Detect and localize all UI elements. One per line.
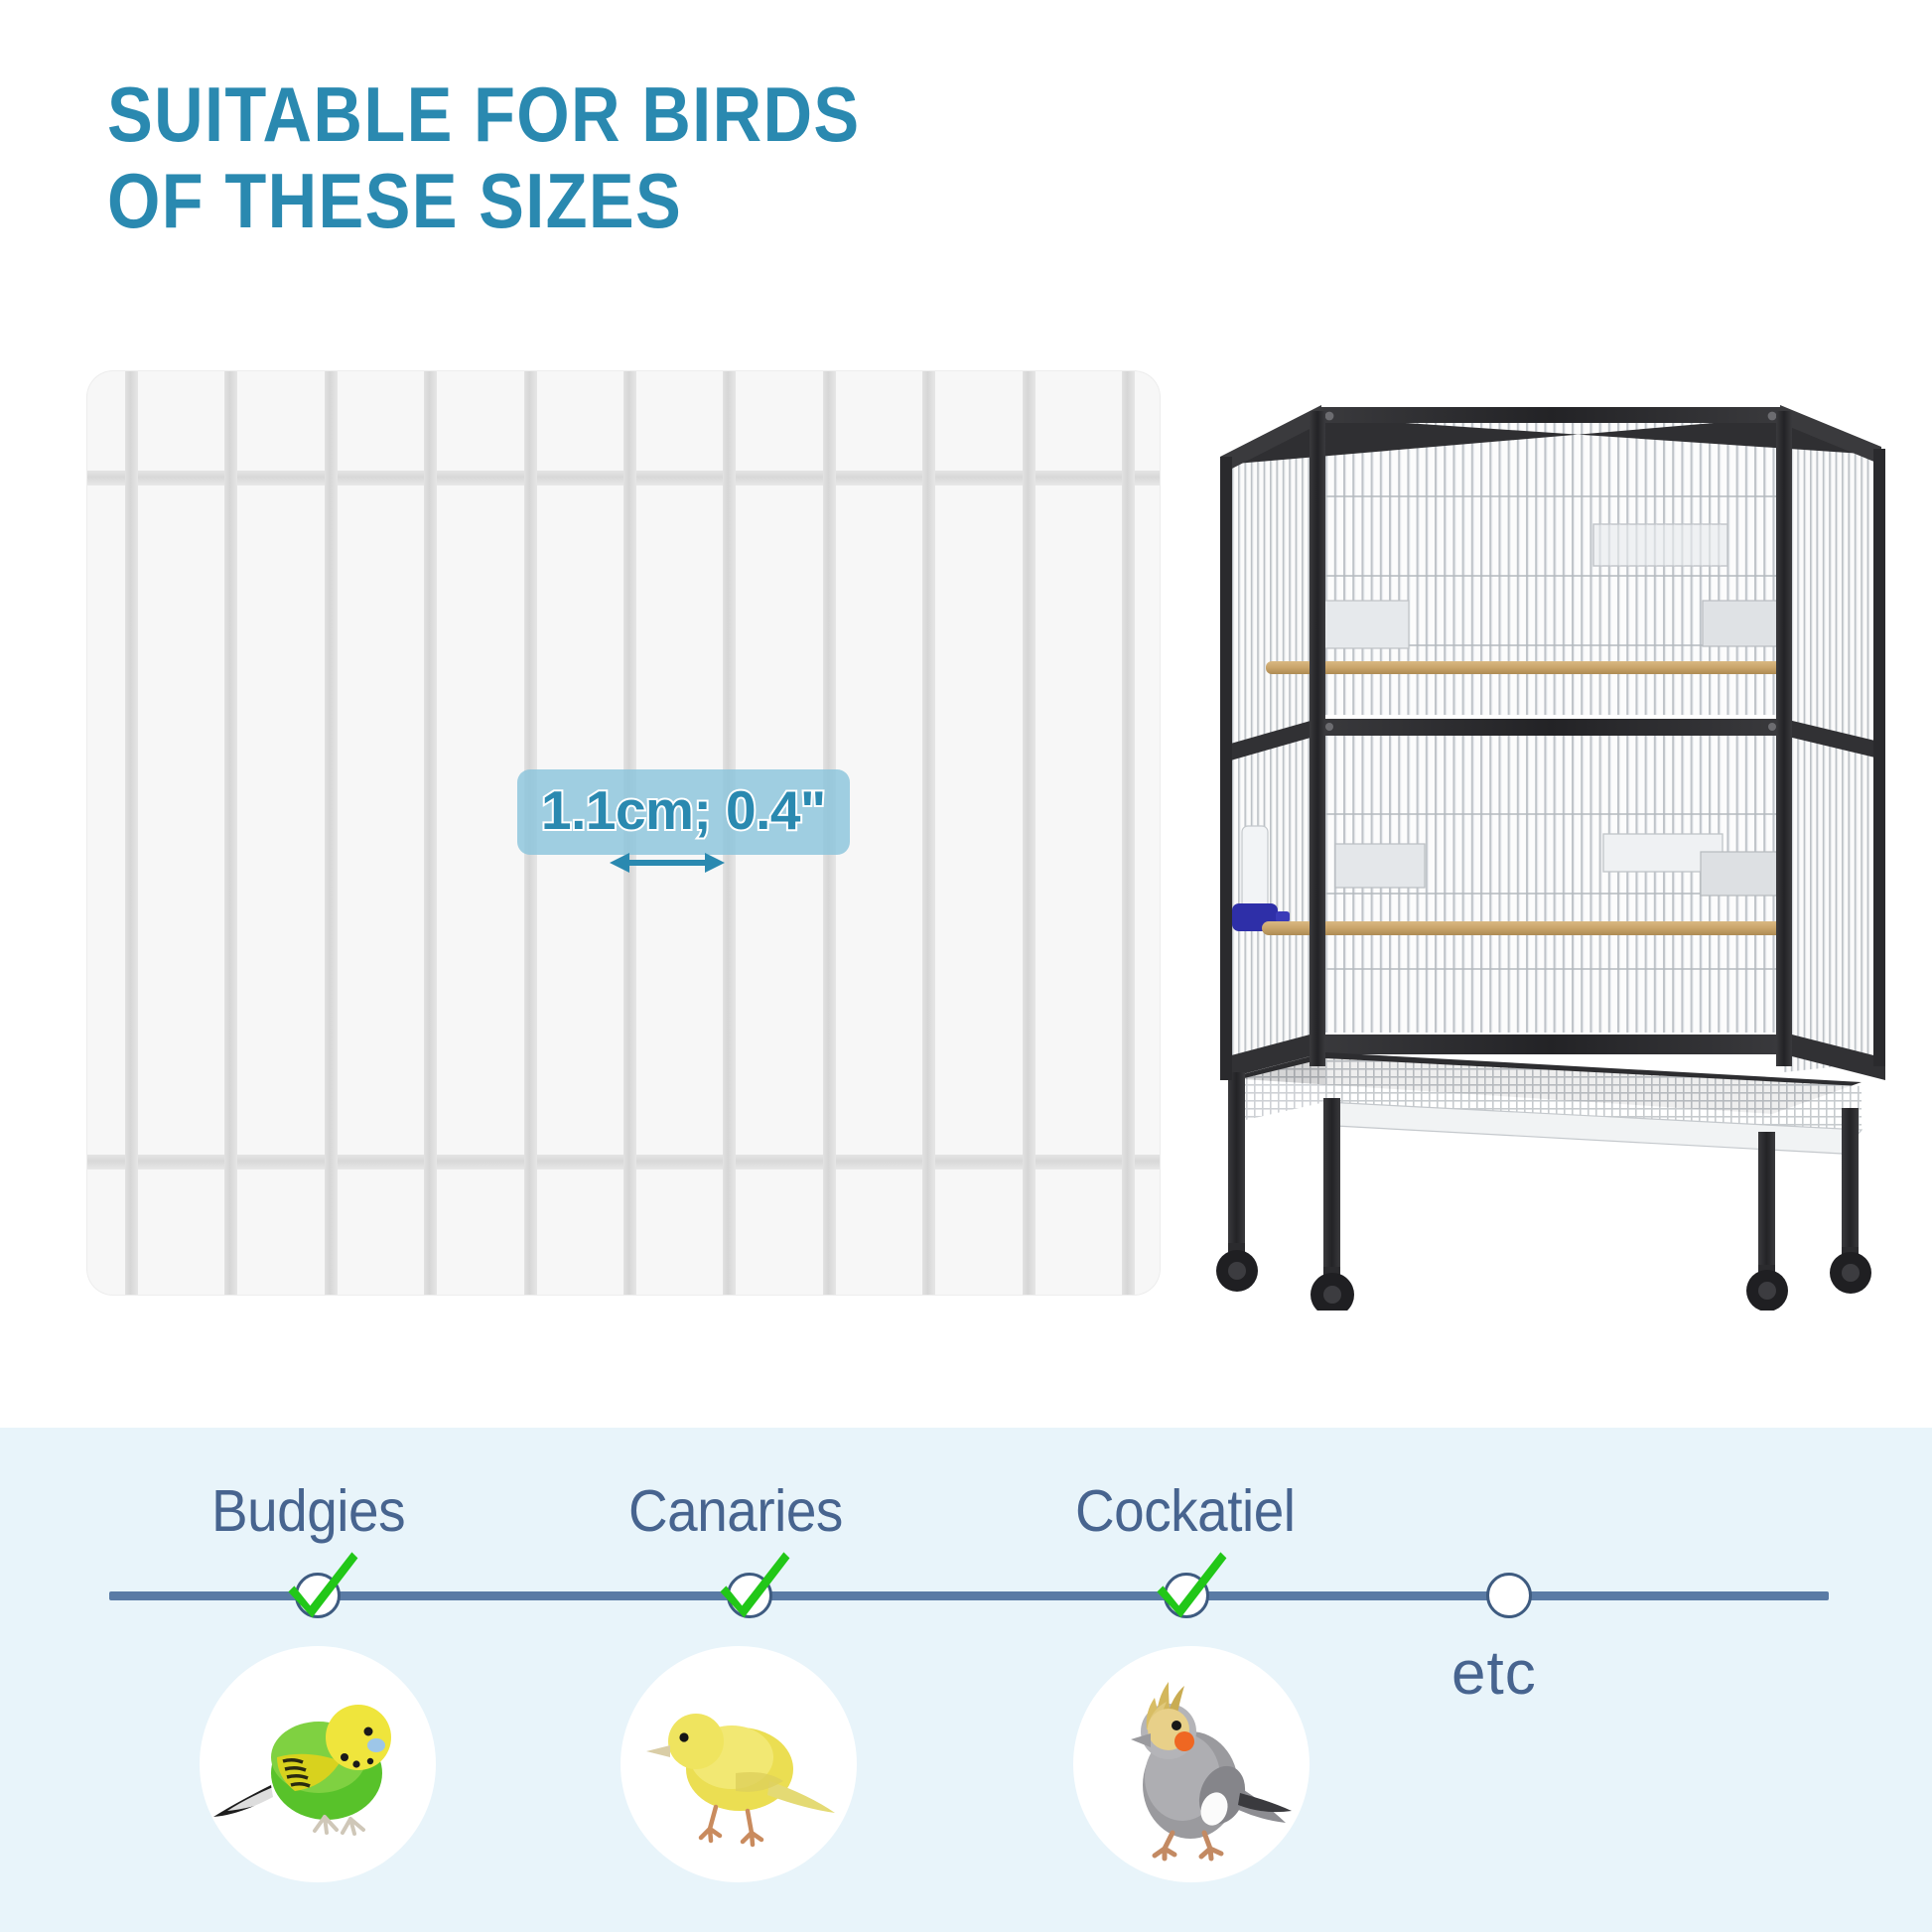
- grid-vertical-bar: [1122, 371, 1135, 1295]
- grid-vertical-bar: [325, 371, 338, 1295]
- canary-photo: [621, 1646, 857, 1882]
- spacing-arrow-icon: [608, 846, 727, 880]
- bird-label-budgies: Budgies: [211, 1477, 405, 1545]
- grid-vertical-bar: [125, 371, 138, 1295]
- cage-perch-upper: [1266, 661, 1782, 674]
- cage-perch-lower: [1262, 921, 1786, 935]
- bird-label-cockatiel: Cockatiel: [1075, 1477, 1295, 1545]
- cockatiel-photo: [1073, 1646, 1310, 1882]
- bird-label-canaries: Canaries: [628, 1477, 843, 1545]
- grid-vertical-bar: [424, 371, 437, 1295]
- bar-spacing-badge: 1.1cm; 0.4": [517, 769, 850, 855]
- bird-cage-image: [1206, 377, 1901, 1311]
- check-icon: [716, 1546, 795, 1625]
- check-icon: [1153, 1546, 1232, 1625]
- suitability-timeline: [109, 1591, 1829, 1600]
- grid-vertical-bar: [922, 371, 935, 1295]
- check-icon: [284, 1546, 363, 1625]
- timeline-node-empty: [1486, 1573, 1532, 1618]
- etc-label: etc: [1451, 1638, 1537, 1709]
- page-title: SUITABLE FOR BIRDS OF THESE SIZES: [107, 71, 1156, 245]
- grid-vertical-bar: [224, 371, 237, 1295]
- budgie-photo: [200, 1646, 436, 1882]
- grid-vertical-bar: [1023, 371, 1035, 1295]
